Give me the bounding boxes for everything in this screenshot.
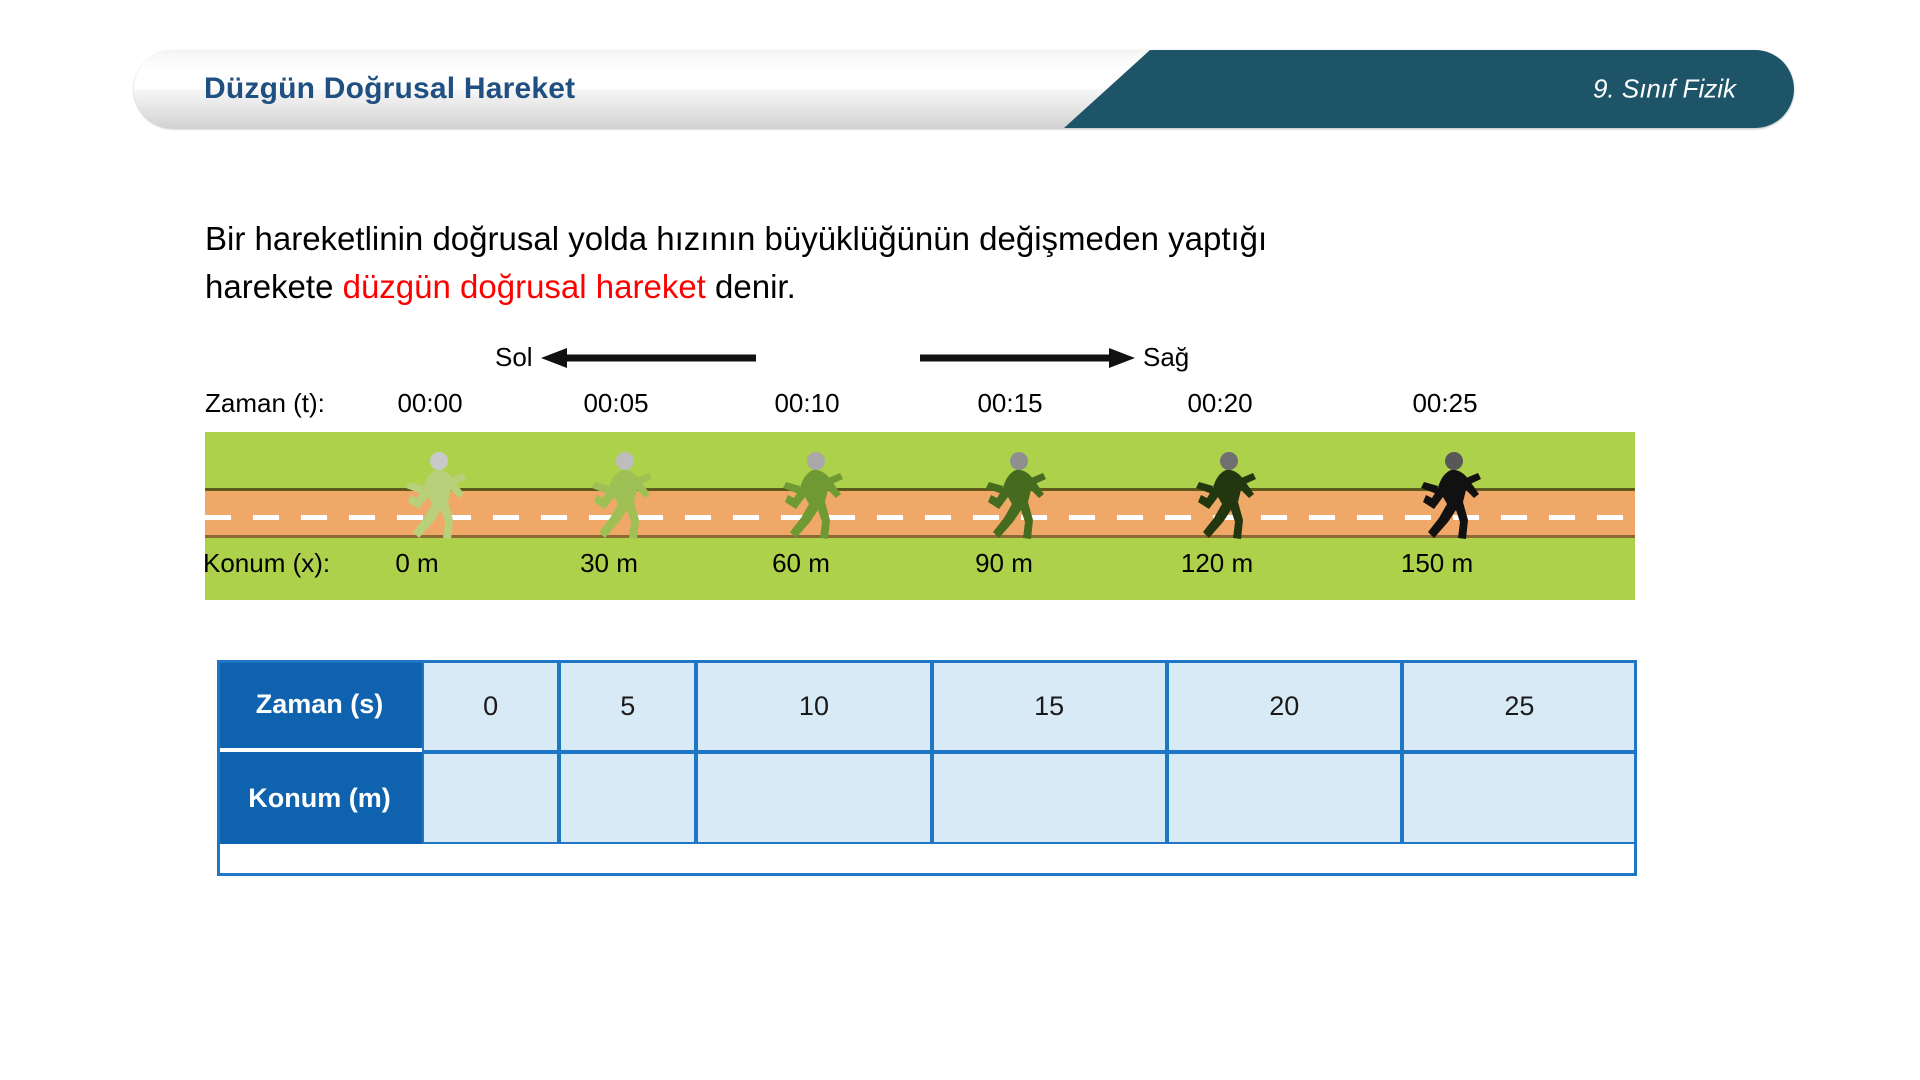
position-label-0: 0 m (395, 548, 438, 579)
page-title: Düzgün Doğrusal Hareket (204, 72, 575, 106)
cell-position-4[interactable] (1167, 752, 1402, 844)
table-row-time: Zaman (s) 0 5 10 15 20 25 (217, 660, 1637, 752)
paragraph-line-2-pre: harekete (205, 268, 343, 305)
runner-silhouette-icon (973, 452, 1047, 544)
time-label-0: 00:00 (397, 388, 462, 419)
table-row-position: Konum (m) (217, 752, 1637, 844)
runner-4 (1183, 452, 1257, 544)
cell-position-2[interactable] (696, 752, 931, 844)
cell-time-0[interactable]: 0 (422, 660, 559, 752)
position-label-5: 150 m (1401, 548, 1473, 579)
position-axis-label: Konum (x): (203, 548, 330, 579)
position-label-4: 120 m (1181, 548, 1253, 579)
position-label-3: 90 m (975, 548, 1033, 579)
highlighted-term: düzgün doğrusal hareket (343, 268, 706, 305)
direction-row: Sol Sağ (205, 340, 1635, 388)
time-row: Zaman (t): 00:00 00:05 00:10 00:15 00:20… (205, 388, 1635, 430)
runner-5 (1408, 452, 1482, 544)
time-label-1: 00:05 (583, 388, 648, 419)
cell-position-0[interactable] (422, 752, 559, 844)
time-label-4: 00:20 (1187, 388, 1252, 419)
arrow-right-icon (920, 346, 1135, 370)
cell-time-3[interactable]: 15 (932, 660, 1167, 752)
runner-3 (973, 452, 1047, 544)
cell-time-2[interactable]: 10 (696, 660, 931, 752)
track-strip: Konum (x): 0 m 30 m 60 m 90 m 120 m 150 … (205, 432, 1635, 600)
direction-right-group: Sağ (920, 342, 1189, 373)
position-label-1: 30 m (580, 548, 638, 579)
row-header-zaman: Zaman (s) (217, 660, 422, 752)
direction-left-group: Sol (495, 342, 756, 373)
time-label-3: 00:15 (977, 388, 1042, 419)
paragraph-line-1: Bir hareketlinin doğrusal yolda hızının … (205, 220, 1267, 257)
runner-silhouette-icon (1408, 452, 1482, 544)
runner-0 (393, 452, 467, 544)
cell-time-1[interactable]: 5 (559, 660, 696, 752)
runner-silhouette-icon (579, 452, 653, 544)
time-label-2: 00:10 (774, 388, 839, 419)
paragraph-line-2-post: denir. (706, 268, 796, 305)
direction-left-label: Sol (495, 342, 533, 373)
runner-2 (770, 452, 844, 544)
runner-silhouette-icon (393, 452, 467, 544)
cell-time-5[interactable]: 25 (1402, 660, 1637, 752)
arrow-left-icon (541, 346, 756, 370)
runner-silhouette-icon (1183, 452, 1257, 544)
cell-position-5[interactable] (1402, 752, 1637, 844)
position-label-2: 60 m (772, 548, 830, 579)
time-label-5: 00:25 (1412, 388, 1477, 419)
motion-figure: Sol Sağ Zaman (t): 00:00 00:05 00:10 00:… (205, 340, 1635, 620)
cell-position-1[interactable] (559, 752, 696, 844)
header-banner: Düzgün Doğrusal Hareket 9. Sınıf Fizik (134, 50, 1794, 128)
row-header-konum: Konum (m) (217, 752, 422, 844)
time-position-table: Zaman (s) 0 5 10 15 20 25 Konum (m) (217, 660, 1637, 844)
definition-paragraph: Bir hareketlinin doğrusal yolda hızının … (205, 215, 1695, 311)
subject-label: 9. Sınıf Fizik (1593, 74, 1736, 105)
time-axis-label: Zaman (t): (205, 388, 325, 419)
direction-right-label: Sağ (1143, 342, 1189, 373)
cell-time-4[interactable]: 20 (1167, 660, 1402, 752)
cell-position-3[interactable] (932, 752, 1167, 844)
runner-1 (579, 452, 653, 544)
runner-silhouette-icon (770, 452, 844, 544)
